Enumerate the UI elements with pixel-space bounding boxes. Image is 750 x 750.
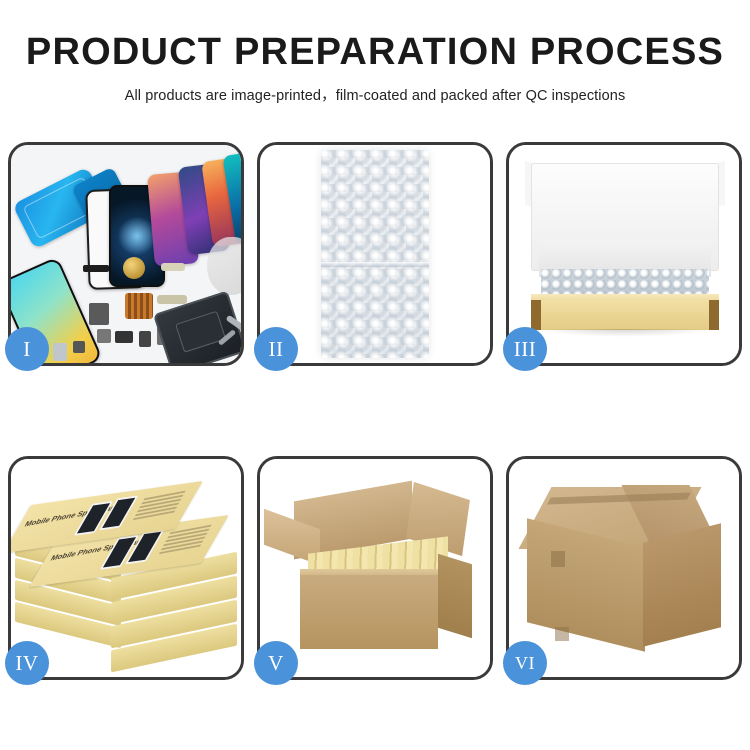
carton-side-face: [438, 554, 472, 638]
step-badge-2: II: [254, 327, 298, 371]
small-part-9: [53, 343, 67, 361]
step-badge-5: V: [254, 641, 298, 685]
bubble-wrap-seam: [321, 262, 429, 267]
step-badge-4: IV: [5, 641, 49, 685]
small-part-4: [97, 329, 111, 343]
sealed-carton-tape-upper: [551, 551, 565, 567]
step-2-image: [260, 145, 490, 363]
product-preparation-process-infographic: PRODUCT PREPARATION PROCESS All products…: [0, 0, 750, 750]
chip-grid-part: [125, 293, 153, 319]
step-panel-2: II: [257, 142, 493, 366]
small-part-2: [161, 263, 185, 271]
step-3-image: [509, 145, 739, 363]
step-6-image: [509, 459, 739, 677]
page-subtitle: All products are image-printed，film-coat…: [0, 84, 750, 105]
step-panel-1: I: [8, 142, 244, 366]
sealed-carton-tape-lower: [555, 627, 569, 641]
carton-front-face: [300, 575, 438, 649]
step-badge-1: I: [5, 327, 49, 371]
small-part-6: [139, 331, 151, 347]
stack-box-textlines-1: [132, 491, 186, 522]
step-5-image: [260, 459, 490, 677]
step-panel-6: VI: [506, 456, 742, 680]
speaker-coil-part: [123, 257, 145, 279]
mailer-box-shadow: [539, 329, 711, 337]
small-part-1: [83, 265, 109, 272]
flex-cable-part: [157, 295, 187, 304]
small-part-10: [73, 341, 85, 353]
step-badge-6: VI: [503, 641, 547, 685]
step-4-image: Mobile Phone Spare Parts Mobile Phone Sp…: [11, 459, 241, 677]
small-part-5: [115, 331, 133, 343]
mailer-box-front: [531, 300, 719, 330]
box-stack: Mobile Phone Spare Parts Mobile Phone Sp…: [15, 477, 239, 669]
step-panel-5: V: [257, 456, 493, 680]
step-panel-3: III: [506, 142, 742, 366]
sealed-carton-side-face: [643, 523, 721, 646]
process-steps-grid: I II III: [8, 142, 742, 728]
hand-holding-part: [207, 237, 241, 295]
step-panel-4: Mobile Phone Spare Parts Mobile Phone Sp…: [8, 456, 244, 680]
step-badge-3: III: [503, 327, 547, 371]
header: PRODUCT PREPARATION PROCESS All products…: [0, 0, 750, 105]
page-title: PRODUCT PREPARATION PROCESS: [0, 33, 750, 71]
bubble-wrap-pouch: [321, 150, 429, 358]
small-part-3: [89, 303, 109, 325]
step-1-image: [11, 145, 241, 363]
